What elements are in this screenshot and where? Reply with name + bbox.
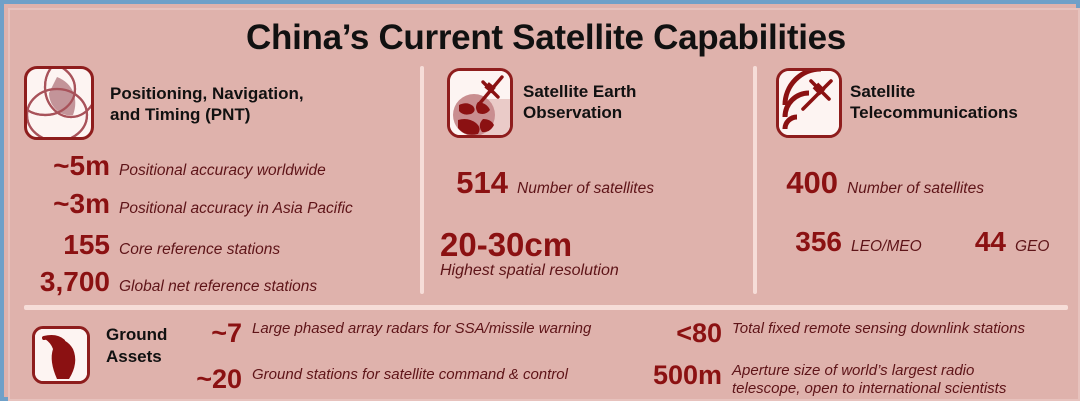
stat-value: 514 — [440, 165, 508, 201]
dish-antenna-icon — [32, 326, 90, 384]
stat-label: GEO — [1015, 238, 1049, 256]
section-heading-pnt: Positioning, Navigation, and Timing (PNT… — [110, 84, 304, 125]
stat-value: ~20 — [180, 366, 242, 393]
stat-row: 155 Core reference stations — [24, 229, 280, 261]
stat-label: Number of satellites — [517, 180, 654, 198]
section-heading-telecommunications: Satellite Telecommunications — [850, 82, 1018, 123]
stat-value: 44 — [968, 226, 1006, 258]
stat-row-geo: 44 GEO — [968, 226, 1049, 258]
stat-label: Positional accuracy in Asia Pacific — [119, 200, 353, 218]
column-divider-2 — [753, 66, 757, 294]
stat-value: 356 — [786, 226, 842, 258]
section-heading-earth-observation-line2: Observation — [523, 103, 636, 124]
stat-value: ~7 — [180, 320, 242, 347]
section-heading-telecommunications-line1: Satellite — [850, 82, 1018, 103]
section-heading-ground-assets-line2: Assets — [106, 346, 167, 368]
stat-value: 400 — [770, 165, 838, 201]
stat-label: Number of satellites — [847, 180, 984, 198]
stat-label: Aperture size of world’s largest radio t… — [732, 362, 1006, 397]
highest-resolution-label: Highest spatial resolution — [440, 262, 619, 280]
stat-label: Total fixed remote sensing downlink stat… — [732, 320, 1025, 338]
section-heading-telecommunications-line2: Telecommunications — [850, 103, 1018, 124]
ground-stat-row: ~7 Large phased array radars for SSA/mis… — [180, 320, 591, 347]
stat-row: ~3m Positional accuracy in Asia Pacific — [24, 188, 353, 220]
stat-value: ~5m — [24, 150, 110, 182]
stat-label-line1: Large phased array radars for SSA/missil… — [252, 320, 591, 338]
satellite-earth-icon — [447, 68, 513, 138]
stat-label: Large phased array radars for SSA/missil… — [252, 320, 591, 338]
section-heading-ground-assets-line1: Ground — [106, 324, 167, 346]
stat-label-line1: Aperture size of world’s largest radio — [732, 362, 1006, 380]
stat-row: ~5m Positional accuracy worldwide — [24, 150, 326, 182]
stat-value: ~3m — [24, 188, 110, 220]
stat-row: 3,700 Global net reference stations — [24, 266, 317, 298]
stat-label: LEO/MEO — [851, 238, 922, 256]
infographic-inner-panel: China’s Current Satellite Capabilities — [8, 8, 1080, 401]
stat-value: <80 — [658, 320, 722, 347]
highest-resolution-value: 20-30cm — [440, 226, 572, 264]
stat-value: 155 — [24, 229, 110, 261]
stat-label: Ground stations for satellite command & … — [252, 366, 568, 384]
stat-row: 514 Number of satellites — [440, 165, 654, 201]
satellite-signal-icon — [776, 68, 842, 138]
ground-stat-row: ~20 Ground stations for satellite comman… — [180, 366, 568, 393]
stat-label-line2: telescope, open to international scienti… — [732, 380, 1006, 398]
trilateration-icon — [24, 66, 94, 140]
stat-label: Global net reference stations — [119, 278, 317, 296]
page-title: China’s Current Satellite Capabilities — [10, 18, 1080, 58]
section-divider-horizontal — [24, 305, 1068, 310]
ground-stat-row: <80 Total fixed remote sensing downlink … — [658, 320, 1025, 347]
stat-value: 500m — [634, 362, 722, 389]
stat-label: Core reference stations — [119, 241, 280, 259]
infographic-frame: China’s Current Satellite Capabilities — [0, 0, 1080, 401]
section-heading-ground-assets: Ground Assets — [106, 324, 167, 368]
column-divider-1 — [420, 66, 424, 294]
stat-label-line1: Total fixed remote sensing downlink stat… — [732, 320, 1025, 338]
stat-label: Positional accuracy worldwide — [119, 162, 326, 180]
section-heading-earth-observation: Satellite Earth Observation — [523, 82, 636, 123]
section-heading-earth-observation-line1: Satellite Earth — [523, 82, 636, 103]
section-heading-pnt-line2: and Timing (PNT) — [110, 105, 304, 126]
stat-row-leo-meo: 356 LEO/MEO — [786, 226, 922, 258]
stat-label-line1: Ground stations for satellite command & … — [252, 366, 568, 384]
stat-row: 400 Number of satellites — [770, 165, 984, 201]
ground-stat-row: 500m Aperture size of world’s largest ra… — [634, 362, 1006, 397]
section-heading-pnt-line1: Positioning, Navigation, — [110, 84, 304, 105]
stat-value: 3,700 — [24, 266, 110, 298]
